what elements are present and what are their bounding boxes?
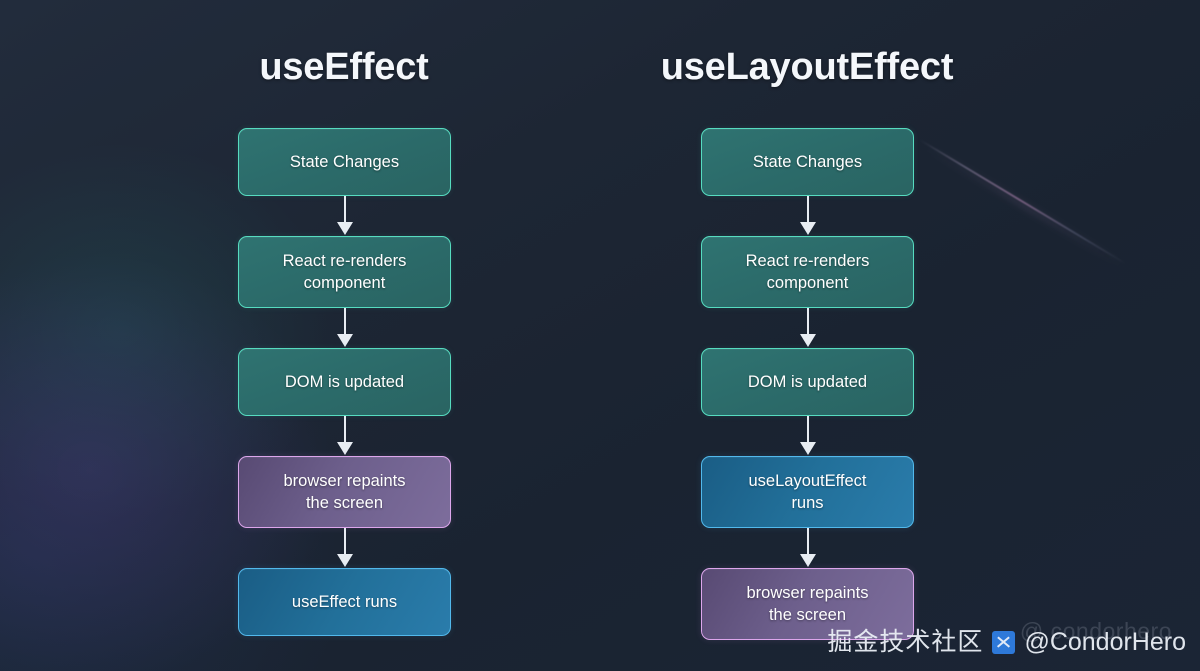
flow-node-label: State Changes: [753, 151, 862, 173]
flow-node-label: React re-renders component: [746, 250, 870, 294]
page-title-useeffect: useEffect: [129, 42, 559, 92]
flow-arrow-down-icon: [701, 528, 914, 568]
flow-node-useeffect-runs[interactable]: useEffect runs: [238, 568, 451, 636]
flow-arrow-down-icon: [701, 196, 914, 236]
flow-node-label: useEffect runs: [292, 591, 397, 613]
flow-node-react-rerenders[interactable]: React re-renders component: [238, 236, 451, 308]
arrow-head: [337, 442, 353, 455]
flow-arrow-down-icon: [238, 528, 451, 568]
flow-node-label: useLayoutEffect runs: [748, 470, 866, 514]
flow-node-uselayouteffect-runs[interactable]: useLayoutEffect runs: [701, 456, 914, 528]
arrow-head: [800, 334, 816, 347]
flow-node-label: DOM is updated: [285, 371, 404, 393]
flow-node-state-changes[interactable]: State Changes: [238, 128, 451, 196]
flow-node-dom-updated[interactable]: DOM is updated: [701, 348, 914, 416]
flow-arrow-down-icon: [701, 416, 914, 456]
flowchart-useeffect: State Changes React re-renders component…: [238, 128, 451, 636]
arrow-head: [800, 554, 816, 567]
flow-arrow-down-icon: [238, 308, 451, 348]
arrow-head: [800, 442, 816, 455]
flow-arrow-down-icon: [238, 416, 451, 456]
flow-node-label: browser repaints the screen: [284, 470, 406, 514]
page-title-uselayouteffect: useLayoutEffect: [592, 42, 1022, 92]
arrow-head: [800, 222, 816, 235]
arrow-head: [337, 554, 353, 567]
flow-node-label: browser repaints the screen: [747, 582, 869, 626]
flow-node-label: State Changes: [290, 151, 399, 173]
flow-node-browser-repaints[interactable]: browser repaints the screen: [238, 456, 451, 528]
flow-node-label: React re-renders component: [283, 250, 407, 294]
flow-arrow-down-icon: [701, 308, 914, 348]
flow-node-state-changes[interactable]: State Changes: [701, 128, 914, 196]
arrow-head: [337, 334, 353, 347]
flow-node-label: DOM is updated: [748, 371, 867, 393]
flow-node-browser-repaints[interactable]: browser repaints the screen: [701, 568, 914, 640]
flow-node-react-rerenders[interactable]: React re-renders component: [701, 236, 914, 308]
column-useeffect: useEffect State Changes React re-renders…: [129, 0, 559, 671]
flow-arrow-down-icon: [238, 196, 451, 236]
column-uselayouteffect: useLayoutEffect State Changes React re-r…: [592, 0, 1022, 671]
flowchart-uselayouteffect: State Changes React re-renders component…: [701, 128, 914, 640]
flow-node-dom-updated[interactable]: DOM is updated: [238, 348, 451, 416]
watermark-handle: @CondorHero: [1024, 627, 1186, 657]
watermark-ghost-text: @ condorhero: [1020, 617, 1172, 645]
slide-canvas: useEffect State Changes React re-renders…: [0, 0, 1200, 671]
arrow-head: [337, 222, 353, 235]
